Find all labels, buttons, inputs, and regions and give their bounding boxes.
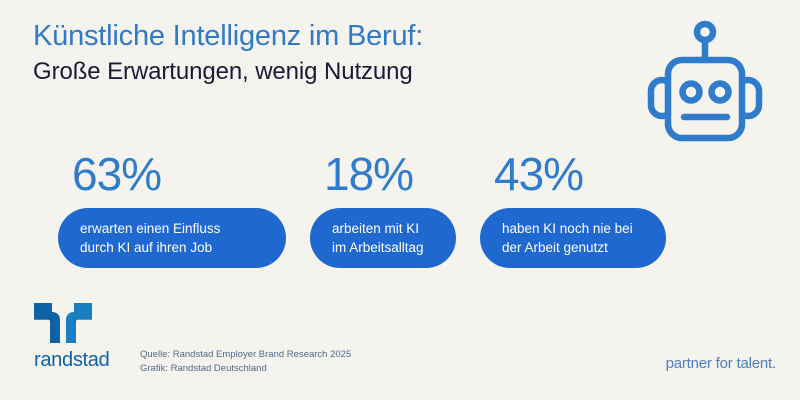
stat-caption-line: durch KI auf ihren Job [80, 238, 264, 257]
infographic-canvas: Künstliche Intelligenz im Beruf: Große E… [0, 0, 800, 400]
header: Künstliche Intelligenz im Beruf: Große E… [33, 18, 633, 88]
stat-value: 63% [72, 148, 286, 200]
stat-caption-pill: arbeiten mit KI im Arbeitsalltag [310, 208, 456, 268]
page-subtitle: Große Erwartungen, wenig Nutzung [33, 56, 633, 88]
stat-caption-line: im Arbeitsalltag [332, 238, 434, 257]
stat-card: 18% arbeiten mit KI im Arbeitsalltag [310, 148, 456, 268]
stat-caption-line: arbeiten mit KI [332, 219, 434, 238]
randstad-logo-mark-icon [34, 303, 92, 343]
stat-value: 43% [494, 148, 666, 200]
source-line: Quelle: Randstad Employer Brand Research… [140, 348, 351, 362]
stat-caption-pill: haben KI noch nie bei der Arbeit genutzt [480, 208, 666, 268]
stats-row: 63% erwarten einen Einfluss durch KI auf… [0, 148, 800, 273]
stat-card: 43% haben KI noch nie bei der Arbeit gen… [480, 148, 666, 268]
randstad-logo: randstad [34, 303, 134, 371]
robot-head-icon-svg [640, 20, 770, 150]
randstad-wordmark: randstad [34, 349, 134, 371]
stat-caption-line: der Arbeit genutzt [502, 238, 644, 257]
page-title: Künstliche Intelligenz im Beruf: [33, 18, 633, 54]
logo-right-arm-icon [66, 303, 92, 343]
stat-caption-line: erwarten einen Einfluss [80, 219, 264, 238]
stat-caption-pill: erwarten einen Einfluss durch KI auf ihr… [58, 208, 286, 268]
stat-card: 63% erwarten einen Einfluss durch KI auf… [58, 148, 286, 268]
stat-value: 18% [324, 148, 456, 200]
source-note: Quelle: Randstad Employer Brand Research… [140, 348, 351, 376]
logo-left-arm-icon [34, 303, 60, 343]
stat-caption-line: haben KI noch nie bei [502, 219, 644, 238]
brand-tagline: partner for talent. [666, 354, 776, 374]
robot-head-icon [640, 20, 770, 150]
source-line: Grafik: Randstad Deutschland [140, 362, 351, 376]
robot-head-outline-icon [668, 60, 742, 138]
